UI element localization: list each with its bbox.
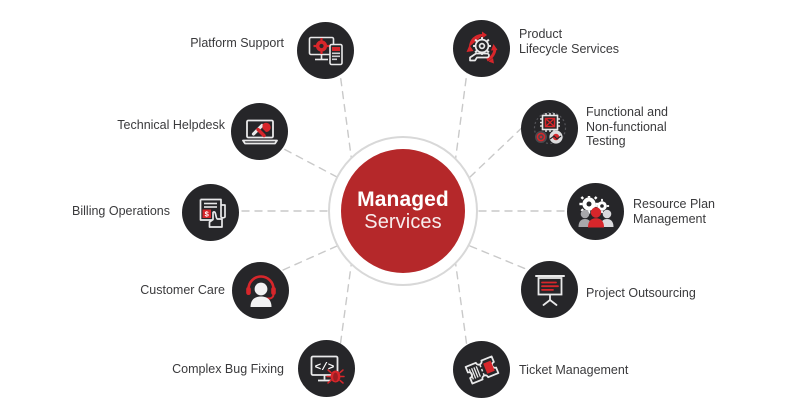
node-platform-support[interactable]	[297, 22, 354, 79]
label-product-lifecycle-services: Product Lifecycle Services	[519, 27, 719, 56]
connector-ticket-management	[455, 259, 467, 347]
node-project-outsourcing[interactable]	[521, 261, 578, 318]
monitor-gear-mobile-icon	[308, 35, 344, 67]
managed-services-diagram: Managed Services	[0, 0, 800, 419]
ticket-stub-icon	[464, 353, 500, 387]
label-complex-bug-fixing: Complex Bug Fixing	[60, 362, 284, 377]
connector-project-outsourcing	[470, 246, 526, 269]
label-resource-plan-management: Resource Plan Management	[633, 197, 800, 226]
invoice-hand-dollar-icon: $	[194, 196, 228, 230]
monitor-code-bug-icon: </>	[309, 353, 345, 385]
label-technical-helpdesk: Technical Helpdesk	[40, 118, 225, 133]
connector-technical-helpdesk	[282, 148, 337, 177]
center-hub-title-line1: Managed	[357, 189, 449, 212]
label-ticket-management: Ticket Management	[519, 363, 719, 378]
laptop-wrench-icon	[241, 117, 279, 147]
label-project-outsourcing: Project Outsourcing	[586, 286, 786, 301]
people-gears-icon	[577, 196, 615, 228]
node-complex-bug-fixing[interactable]: </>	[298, 340, 355, 397]
presentation-board-icon	[532, 273, 568, 307]
node-billing-operations[interactable]: $	[182, 184, 239, 241]
connector-complex-bug-fixing	[340, 259, 352, 347]
center-hub: Managed Services	[341, 149, 465, 273]
connector-customer-care	[283, 246, 337, 270]
microchip-testing-icon	[532, 112, 568, 146]
connector-product-lifecycle-services	[455, 72, 467, 163]
node-resource-plan-management[interactable]	[567, 183, 624, 240]
node-technical-helpdesk[interactable]	[231, 103, 288, 160]
label-billing-operations: Billing Operations	[20, 204, 170, 219]
svg-text:</>: </>	[314, 362, 334, 374]
connector-platform-support	[340, 73, 352, 163]
node-ticket-management[interactable]	[453, 341, 510, 398]
headset-person-icon	[244, 275, 278, 307]
node-customer-care[interactable]	[232, 262, 289, 319]
label-functional-and-non-functional-testing: Functional and Non-functional Testing	[586, 105, 786, 149]
label-customer-care: Customer Care	[40, 283, 225, 298]
center-hub-title-line2: Services	[364, 212, 442, 234]
node-product-lifecycle-services[interactable]	[453, 20, 510, 77]
node-functional-and-non-functional-testing[interactable]	[521, 100, 578, 157]
gear-in-hand-cycle-icon	[463, 31, 501, 67]
label-platform-support: Platform Support	[60, 36, 284, 51]
